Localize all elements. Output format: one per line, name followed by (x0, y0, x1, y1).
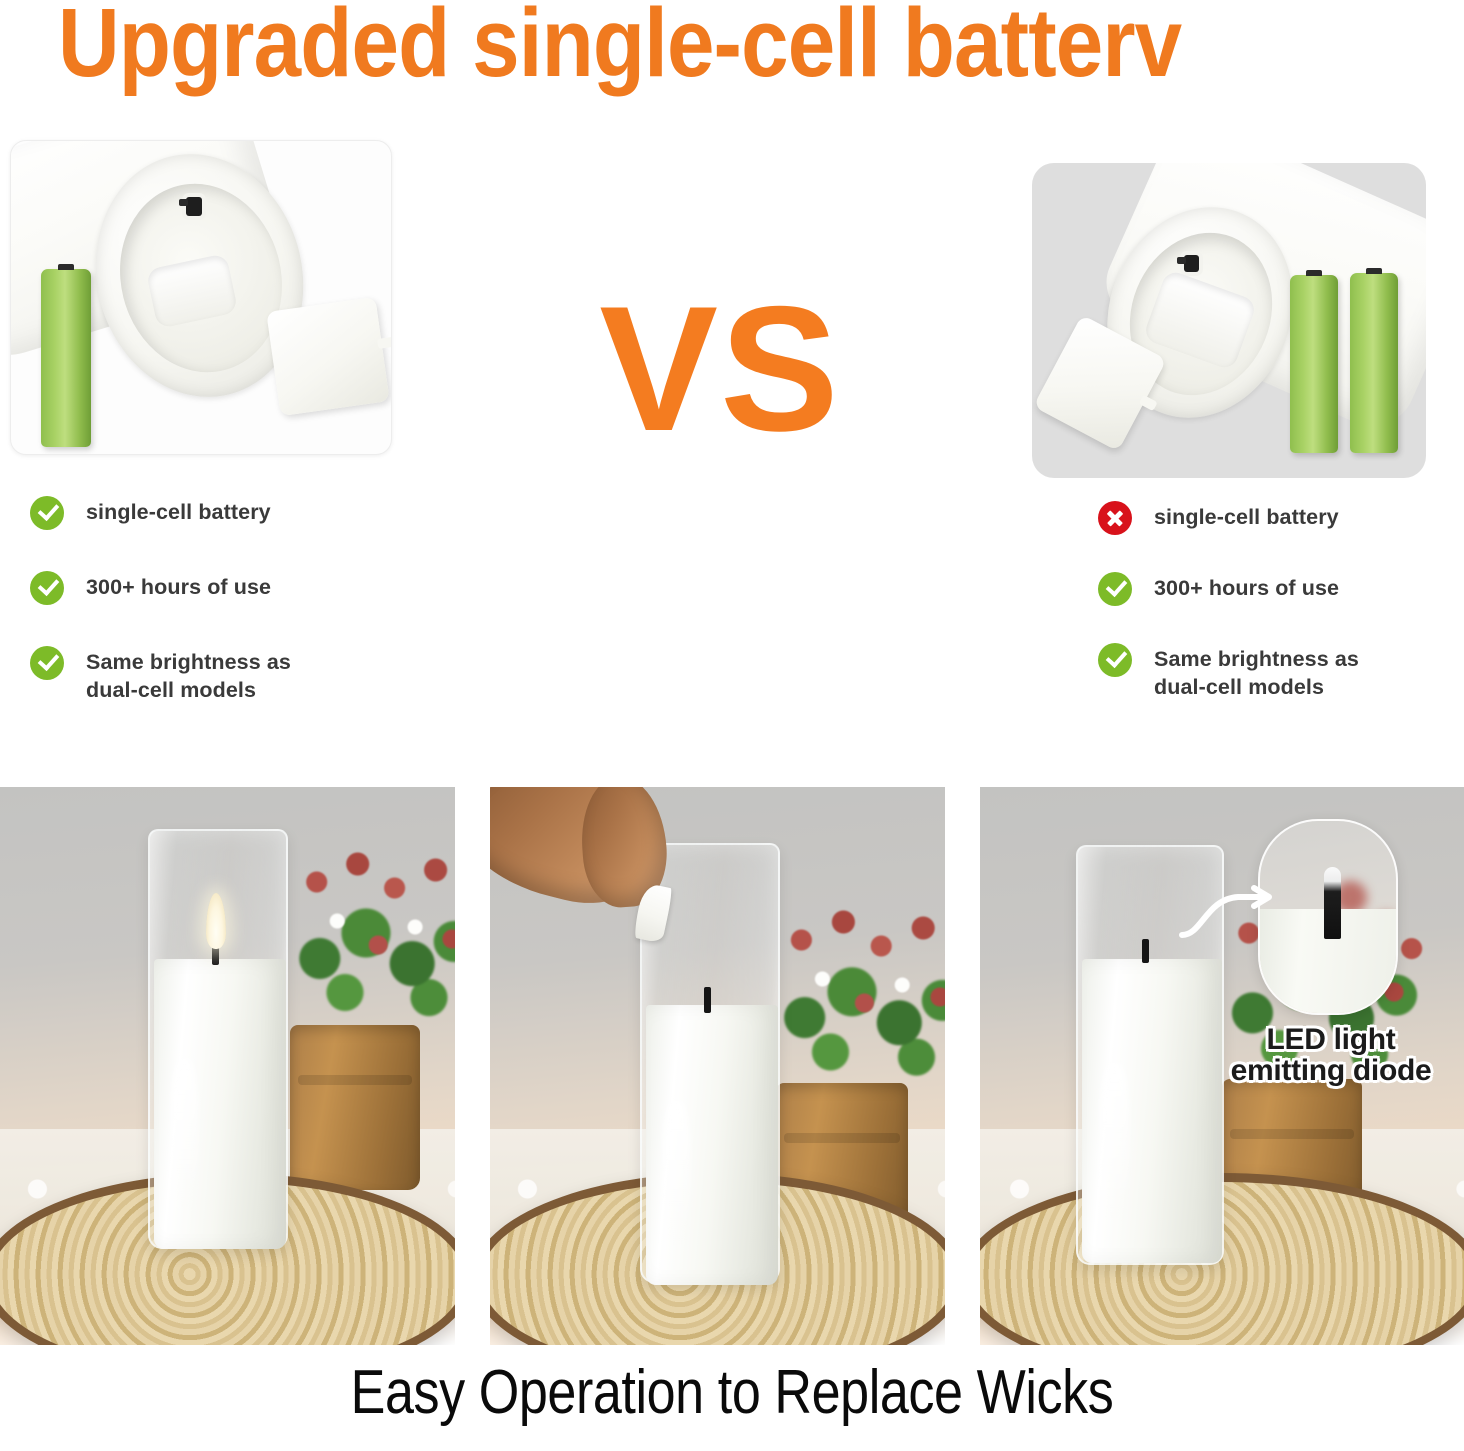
plant-flowers (772, 907, 945, 1057)
candle-wax (154, 959, 286, 1249)
battery-cover-left (266, 297, 390, 416)
glass-cylinder (148, 829, 288, 1249)
check-circle-icon (30, 496, 64, 530)
power-switch-left (186, 197, 202, 216)
feature-label: Same brightness as dual-cell models (1154, 642, 1359, 702)
feature-label: 300+ hours of use (86, 570, 271, 601)
feature-label: 300+ hours of use (1154, 571, 1339, 602)
check-circle-icon (1098, 643, 1132, 677)
page-title: Upgraded single-cell batterv (58, 0, 1290, 91)
led-callout-line1: LED light (1216, 1025, 1446, 1056)
power-switch-right (1184, 255, 1199, 272)
left-feature-list: single-cell battery 300+ hours of use Sa… (30, 495, 430, 745)
led-callout-line2: emitting diode (1216, 1056, 1446, 1087)
gallery-panel-led-detail: LED light emitting diode (980, 787, 1464, 1345)
gallery-panel-candle-lit (0, 787, 455, 1345)
candle-wax (646, 1005, 778, 1285)
comparison-section: VS single-cell battery 300+ hours of use… (0, 130, 1464, 770)
list-item: 300+ hours of use (1098, 571, 1464, 606)
feature-label: Same brightness as dual-cell models (86, 645, 291, 705)
candle-flame (206, 893, 226, 949)
footer-caption: Easy Operation to Replace Wicks (0, 1360, 1464, 1425)
right-product-image (1032, 163, 1426, 478)
list-item: single-cell battery (1098, 500, 1464, 535)
battery-green-2 (1350, 273, 1398, 453)
vs-label: VS (440, 280, 1000, 458)
check-circle-icon (30, 571, 64, 605)
plant-pot (290, 1025, 420, 1190)
candle-wick (704, 987, 711, 1013)
feature-label: single-cell battery (1154, 500, 1339, 531)
list-item: Same brightness as dual-cell models (30, 645, 430, 705)
check-circle-icon (30, 646, 64, 680)
battery-green-1 (41, 269, 91, 447)
feature-label: single-cell battery (86, 495, 271, 526)
plant-flowers (288, 849, 455, 999)
candle-wick (1142, 939, 1149, 963)
led-diode (1324, 867, 1341, 939)
led-callout-label: LED light emitting diode (1216, 1025, 1446, 1086)
check-circle-icon (1098, 572, 1132, 606)
right-feature-list: single-cell battery 300+ hours of use Sa… (1098, 500, 1464, 738)
list-item: Same brightness as dual-cell models (1098, 642, 1464, 702)
list-item: single-cell battery (30, 495, 430, 530)
footer-caption-text: Easy Operation to Replace Wicks (351, 1360, 1114, 1425)
left-product-image (10, 140, 392, 455)
battery-green-1 (1290, 275, 1338, 453)
cross-circle-icon (1098, 501, 1132, 535)
right-scene (1032, 163, 1426, 478)
list-item: 300+ hours of use (30, 570, 430, 605)
product-gallery: LED light emitting diode (0, 787, 1464, 1345)
gallery-panel-wick-removal (490, 787, 945, 1345)
candle-wax (1082, 959, 1222, 1263)
left-scene (11, 141, 391, 454)
callout-arrow-icon (1176, 885, 1286, 941)
